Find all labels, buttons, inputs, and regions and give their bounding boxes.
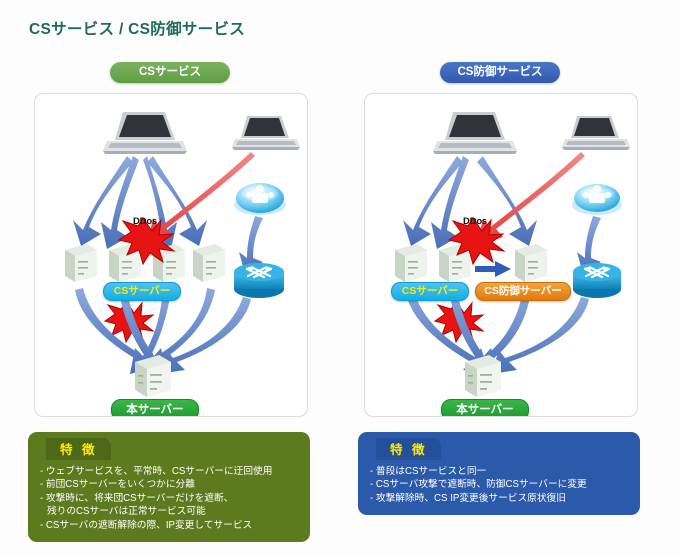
badge-cs-service: CSサービス xyxy=(110,62,230,83)
page-title: CSサービス / CS防御サービス xyxy=(29,17,245,39)
badge-cs-defense-service: CS防御サービス xyxy=(440,62,560,83)
column-cs-defense-service: CS防御サービス xyxy=(350,62,650,417)
ddos-label-left: DDos xyxy=(133,216,157,227)
feature-list-left: - ウェブサービスを、平常時、CSサーバーに迂回使用 - 前団CSサーバーをいく… xyxy=(38,465,300,532)
router-icon xyxy=(234,263,284,298)
cs-defense-server-pill: CS防御サーバー xyxy=(475,282,571,301)
cs-server-pill-right: CSサーバー xyxy=(391,282,469,301)
laptop-icon-left xyxy=(103,112,187,154)
feature-heading-right: 特 徴 xyxy=(376,438,441,460)
diagram-panel-cs-service: DDos CSサーバー 本サーバー xyxy=(34,93,308,417)
feature-item: 残りのCSサーバは正常サービス可能 xyxy=(38,505,300,518)
column-cs-service: CSサービス xyxy=(20,62,320,417)
server-icon-main xyxy=(135,355,171,397)
server-stack-icon-4 xyxy=(193,244,225,282)
laptop-icon-left xyxy=(433,112,517,154)
server-icon-main xyxy=(465,355,501,397)
cloud-icon xyxy=(234,183,286,215)
feature-heading-left: 特 徴 xyxy=(46,438,111,460)
feature-item: - CSサーバ攻撃で遮断時、防御CSサーバーに変更 xyxy=(368,478,630,491)
router-icon xyxy=(573,263,621,298)
ddos-label-right: DDos xyxy=(463,216,487,227)
arrow-right-icon-switch xyxy=(475,261,511,277)
server-stack-icon-3 xyxy=(515,244,547,282)
feature-item: - 普段はCSサービスと同一 xyxy=(368,465,630,478)
cs-server-pill-left: CSサーバー xyxy=(103,282,181,301)
cloud-icon xyxy=(572,184,622,215)
diagram-svg-cs-defense-service xyxy=(365,94,637,416)
feature-item: - CSサーバの遮断解除の際、IP変更してサービス xyxy=(38,519,300,532)
laptop-icon-right xyxy=(232,116,300,150)
laptop-icon-right xyxy=(562,116,630,150)
server-stack-icon-1 xyxy=(395,244,427,282)
feature-box-cs-service: 特 徴 - ウェブサービスを、平常時、CSサーバーに迂回使用 - 前団CSサーバ… xyxy=(28,432,310,542)
feature-item: - ウェブサービスを、平常時、CSサーバーに迂回使用 xyxy=(38,465,300,478)
feature-list-right: - 普段はCSサービスと同一 - CSサーバ攻撃で遮断時、防御CSサーバーに変更… xyxy=(368,465,630,505)
feature-item: - 前団CSサーバーをいくつかに分離 xyxy=(38,478,300,491)
server-stack-icon-1 xyxy=(65,244,97,282)
feature-box-cs-defense-service: 特 徴 - 普段はCSサービスと同一 - CSサーバ攻撃で遮断時、防御CSサーバ… xyxy=(358,432,640,515)
diagram-panel-cs-defense-service: DDos CSサーバー CS防御サーバー 本サーバー xyxy=(364,93,638,417)
diagram-svg-cs-service xyxy=(35,94,307,416)
main-server-pill-left: 本サーバー xyxy=(111,399,199,417)
main-server-pill-right: 本サーバー xyxy=(441,399,529,417)
feature-item: - 攻撃解除時、CS IP変更後サービス原状復旧 xyxy=(368,492,630,505)
feature-item: - 攻撃時に、将来団CSサーバーだけを遮断、 xyxy=(38,492,300,505)
